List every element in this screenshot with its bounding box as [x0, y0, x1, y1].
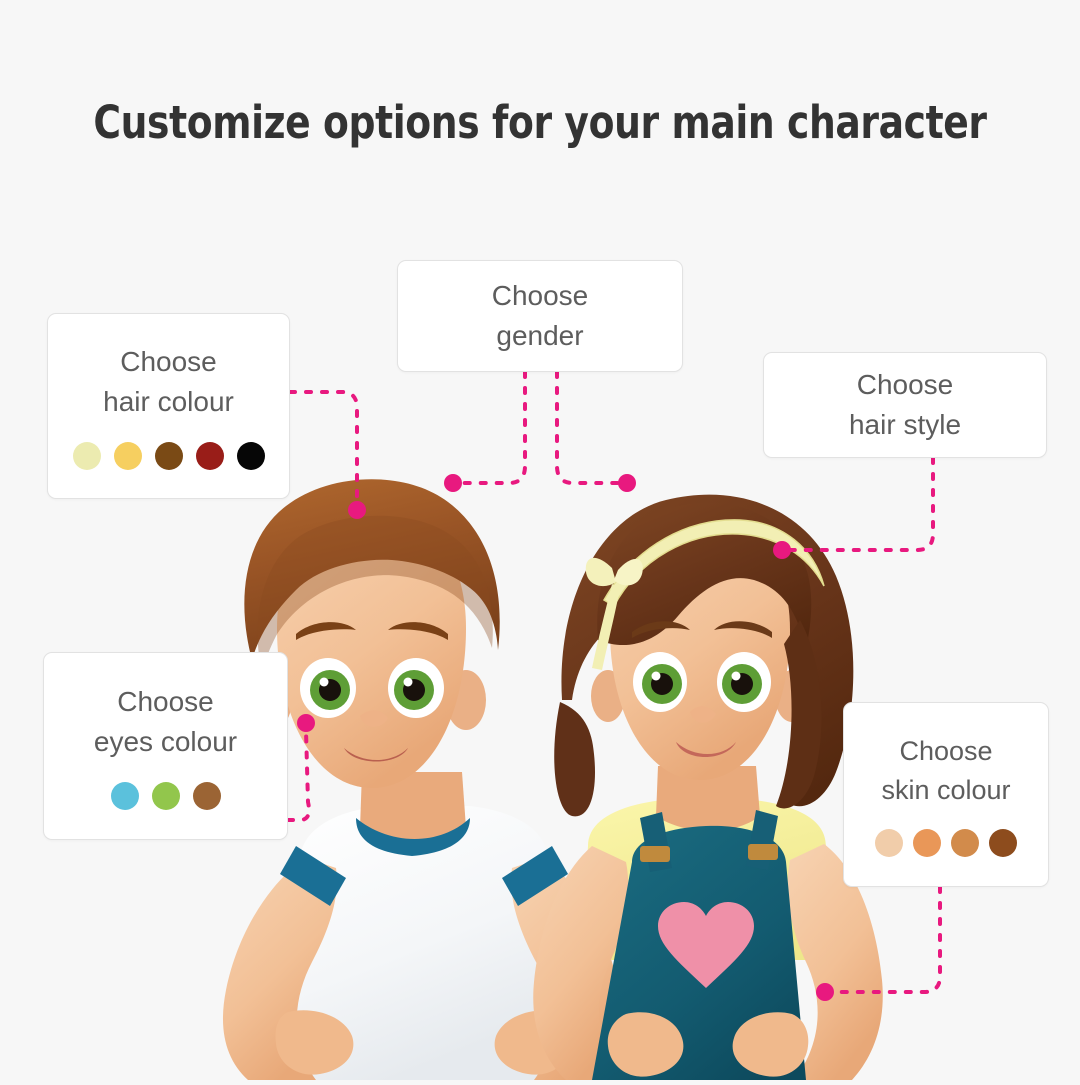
girl-left-eye	[633, 652, 687, 712]
swatch-eyes-green[interactable]	[152, 782, 180, 810]
customization-screen: Customize options for your main characte…	[0, 0, 1080, 1080]
card-hair-colour[interactable]: Choose hair colour	[47, 313, 290, 499]
girl-right-buckle	[748, 844, 778, 860]
characters-svg	[0, 0, 1080, 1080]
swatch-hair-dark-red[interactable]	[196, 442, 224, 470]
swatch-hair-medium-brown[interactable]	[155, 442, 183, 470]
hair-colour-swatches	[73, 442, 265, 470]
boy-right-eye	[388, 658, 444, 718]
character-illustration	[0, 0, 1080, 1080]
swatch-skin-medium-tan[interactable]	[951, 829, 979, 857]
swatch-skin-deep-brown[interactable]	[989, 829, 1017, 857]
card-gender-label: Choose gender	[492, 276, 589, 356]
card-skin-colour[interactable]: Choose skin colour	[843, 702, 1049, 887]
swatch-hair-golden-blonde[interactable]	[114, 442, 142, 470]
card-hair-style[interactable]: Choose hair style	[763, 352, 1047, 458]
girl-character	[533, 495, 883, 1080]
card-skin-colour-label: Choose skin colour	[881, 732, 1010, 809]
eyes-colour-swatches	[111, 782, 221, 810]
card-gender[interactable]: Choose gender	[397, 260, 683, 372]
swatch-eyes-brown[interactable]	[193, 782, 221, 810]
swatch-hair-black[interactable]	[237, 442, 265, 470]
card-hair-style-label: Choose hair style	[849, 365, 961, 445]
card-eyes-colour-label: Choose eyes colour	[94, 682, 237, 762]
girl-hair-left-lock	[554, 702, 595, 816]
swatch-skin-light[interactable]	[875, 829, 903, 857]
swatch-skin-medium-light[interactable]	[913, 829, 941, 857]
skin-colour-swatches	[875, 829, 1017, 857]
swatch-eyes-blue[interactable]	[111, 782, 139, 810]
card-hair-colour-label: Choose hair colour	[103, 342, 234, 422]
card-eyes-colour[interactable]: Choose eyes colour	[43, 652, 288, 840]
swatch-hair-platinum-blonde[interactable]	[73, 442, 101, 470]
boy-left-eye	[300, 658, 356, 718]
girl-left-buckle	[640, 846, 670, 862]
girl-right-eye	[717, 652, 771, 712]
